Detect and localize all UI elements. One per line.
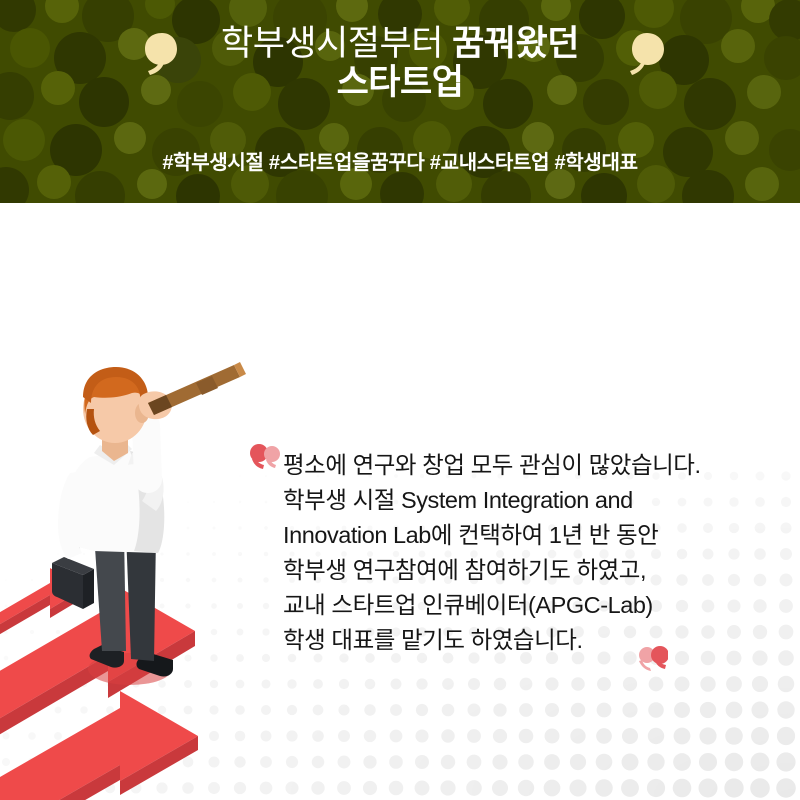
quote-line: 학부생 시절 System Integration and (283, 483, 753, 518)
quote-line: 학부생 연구참여에 참여하기도 하였고, (283, 553, 753, 588)
infographic-card: 학부생시절부터 꿈꿔왔던 스타트업 #학부생시절 #스타트업을꿈꾸다 #교내스타… (0, 0, 800, 800)
telescope (148, 362, 246, 415)
header-banner: 학부생시절부터 꿈꿔왔던 스타트업 #학부생시절 #스타트업을꿈꾸다 #교내스타… (0, 0, 800, 203)
title-line-2: 스타트업 (0, 63, 800, 102)
quote-line: Innovation Lab에 컨택하여 1년 반 동안 (283, 518, 753, 553)
businessman-telescope-illustration (0, 353, 290, 800)
hashtag-list: #학부생시절 #스타트업을꿈꾸다 #교내스타트업 #학생대표 (0, 146, 800, 175)
quote-line: 교내 스타트업 인큐베이터(APGC-Lab) (283, 588, 753, 623)
quote-line: 평소에 연구와 창업 모두 관심이 많았습니다. (283, 448, 753, 483)
quote-line: 학생 대표를 맡기도 하였습니다. (283, 623, 753, 658)
content-area: 평소에 연구와 창업 모두 관심이 많았습니다. 학부생 시절 System I… (0, 203, 800, 800)
title-line-1-bold: 꿈꿔왔던 (452, 24, 579, 63)
quote-text-block: 평소에 연구와 창업 모두 관심이 많았습니다. 학부생 시절 System I… (283, 448, 753, 658)
header-title: 학부생시절부터 꿈꿔왔던 스타트업 (0, 24, 800, 102)
quote-open-icon (250, 443, 280, 469)
title-line-1-plain: 학부생시절부터 (221, 24, 452, 63)
quote-close-icon (638, 645, 668, 671)
